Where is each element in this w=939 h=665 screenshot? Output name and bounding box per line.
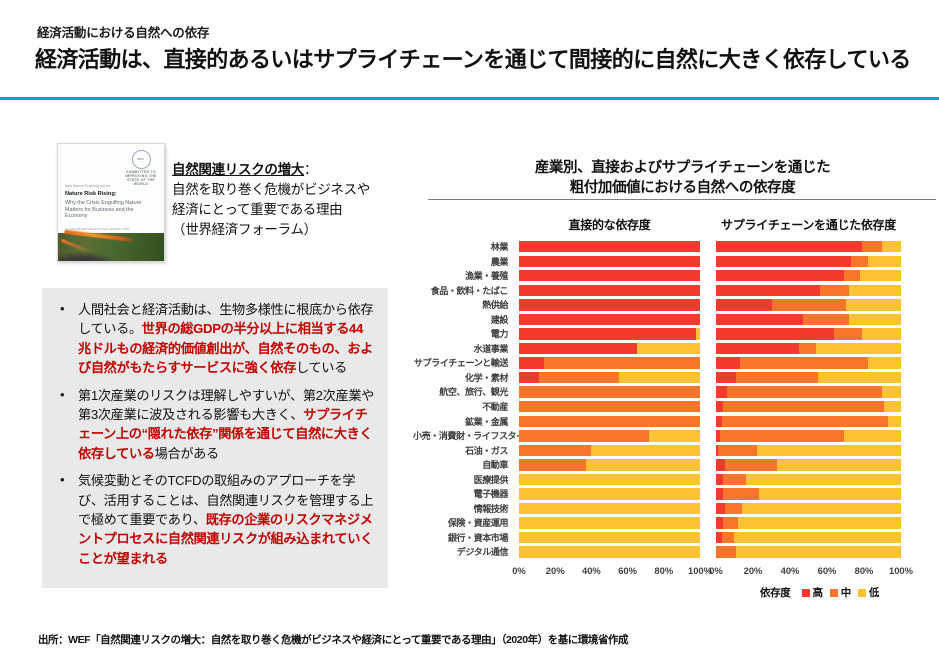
key-point-item: 人間社会と経済活動は、生物多様性に根底から依存している。世界の総GDPの半分以上… [52,300,374,378]
chart-bar-segment-低 [849,314,901,325]
chart-title-line-1: 産業別、直接およびサプライチェーンを通じた [430,158,935,178]
chart-bar-track [716,503,901,514]
chart-category-label: デジタル通信 [413,545,513,560]
chart-bar-row [519,342,700,357]
chart-bar-row [519,327,700,342]
chart-x-axis-supply-chain: 0%20%40%60%80%100% [716,565,901,579]
cover-title: Nature Risk Rising: [65,191,117,197]
chart-bar-segment-高 [519,357,544,368]
chart-bar-segment-低 [844,430,901,441]
chart-bar-segment-中 [723,488,758,499]
chart-bar-track [716,357,901,368]
key-points-box: 人間社会と経済活動は、生物多様性に根底から依存している。世界の総GDPの半分以上… [42,288,388,588]
chart-bar-row [716,327,901,342]
chart-bar-track [716,430,901,441]
cover-photo-lava-2 [61,239,94,255]
chart-bar-row [716,385,901,400]
chart-bar-segment-中 [539,372,619,383]
chart-bar-segment-高 [716,314,803,325]
slide: 経済活動における自然への依存 経済活動は、直接的あるいはサプライチェーンを通じて… [0,0,939,665]
chart-bar-segment-中 [544,357,700,368]
chart-bar-segment-低 [888,416,901,427]
chart-category-label: 鉱業・金属 [413,415,513,430]
chart-bar-segment-中 [803,314,849,325]
chart-bar-track [716,386,901,397]
chart-bar-track [716,314,901,325]
chart-bar-row [716,313,901,328]
legend-swatch-icon [858,589,866,597]
chart-category-label: 食品・飲料・たばこ [413,284,513,299]
chart-bar-segment-低 [777,459,901,470]
chart-bars-direct [519,240,700,560]
chart-bar-segment-高 [519,285,700,296]
chart-bar-row [716,400,901,415]
key-point-text: している [296,360,347,375]
legend-item[interactable]: 中 [830,585,851,600]
chart-category-label: 医療提供 [413,473,513,488]
chart-bar-row [716,342,901,357]
chart-title-line-2: 粗付加価値における自然への依存度 [430,178,935,198]
chart-bar-row [519,255,700,270]
chart-bar-track [716,241,901,252]
chart-bar-row [716,545,901,560]
chart-bar-segment-低 [519,517,700,528]
chart-bar-track [519,430,700,441]
chart-bar-segment-高 [716,270,844,281]
chart-bar-segment-中 [722,416,889,427]
chart-x-tick: 100% [889,565,913,576]
wef-ring-icon: WEF [132,150,151,169]
chart-bar-row [519,545,700,560]
legend-item[interactable]: 高 [802,585,823,600]
chart-category-label: 航空、旅行、観光 [413,385,513,400]
chart-bar-segment-高 [716,503,725,514]
chart-bar-row [519,444,700,459]
chart-bar-segment-中 [725,503,742,514]
chart-category-label: 銀行・資本市場 [413,531,513,546]
chart-bar-segment-中 [519,445,591,456]
chart-x-tick: 80% [654,565,673,576]
chart-bar-track [519,270,700,281]
chart-category-label: 電力 [413,327,513,342]
chart-bar-segment-高 [519,256,700,267]
key-point-item: 気候変動とそのTCFDの取組みのアプローチを学び、活用することは、自然関連リスク… [52,471,374,568]
chart-bar-segment-中 [723,474,745,485]
chart-x-tick: 20% [744,565,763,576]
legend-item[interactable]: 低 [858,585,879,600]
chart-bar-segment-低 [519,503,700,514]
chart-bar-segment-低 [757,445,901,456]
page-title: 経済活動は、直接的あるいはサプライチェーンを通じて間接的に自然に大きく依存してい… [35,42,911,74]
chart-bar-segment-低 [759,488,901,499]
chart-bar-row [519,429,700,444]
chart-bar-segment-低 [868,256,901,267]
chart-title: 産業別、直接およびサプライチェーンを通じた 粗付加価値における自然への依存度 [430,158,935,198]
source-note: 出所：WEF「自然関連リスクの増大：自然を取り巻く危機がビジネスや経済にとって重… [38,632,628,647]
chart-bar-track [716,401,901,412]
chart-bar-row [716,255,901,270]
chart-bar-track [716,546,901,557]
chart-bar-row [716,298,901,313]
chart-bar-segment-中 [862,241,882,252]
chart-bar-segment-低 [519,488,700,499]
chart-bar-segment-中 [725,459,777,470]
chart-bar-segment-高 [716,285,820,296]
chart-bar-row [716,516,901,531]
chart-bar-segment-中 [844,270,861,281]
chart-bar-track [716,517,901,528]
chart-bar-row [716,473,901,488]
chart-legend: 依存度 高中低 [700,585,939,600]
chart-bar-segment-中 [799,343,816,354]
chart-bar-segment-中 [740,357,868,368]
chart-bar-segment-低 [849,285,901,296]
chart-category-label: 自動車 [413,458,513,473]
chart-bar-segment-低 [882,386,901,397]
chart-bar-row [716,356,901,371]
chart-bar-segment-高 [716,241,862,252]
chart-bar-track [519,241,700,252]
chart-bar-segment-中 [736,372,817,383]
chart-bar-segment-低 [519,546,700,557]
chart-bar-track [716,256,901,267]
chart-bar-segment-低 [868,357,901,368]
chart-bar-track [519,386,700,397]
chart-category-label: サプライチェーンと輸送 [413,356,513,371]
key-points-list: 人間社会と経済活動は、生物多様性に根底から依存している。世界の総GDPの半分以上… [42,288,388,568]
chart-bar-track [519,357,700,368]
chart-bar-segment-中 [519,459,586,470]
chart-bar-segment-中 [820,285,850,296]
chart-bar-segment-低 [882,241,901,252]
chart-bar-row [519,269,700,284]
chart-bar-segment-低 [816,343,901,354]
chart-category-labels: 林業農業漁業・養殖食品・飲料・たばこ熱供給建設電力水道事業サプライチェーンと輸送… [413,240,513,560]
key-point-item: 第1次産業のリスクは理解しやすいが、第2次産業や第3次産業に波及される影響も大き… [52,386,374,464]
chart-x-tick: 40% [781,565,800,576]
chart-x-tick: 0% [512,565,526,576]
chart-bar-segment-中 [723,401,884,412]
chart-bar-segment-高 [716,488,723,499]
chart-category-label: 化学・素材 [413,371,513,386]
chart-category-label: 小売・消費財・ライフスタイル [413,429,513,444]
chart-bar-row [519,385,700,400]
legend-swatch-icon [802,589,810,597]
chart-bar-segment-高 [716,372,736,383]
chart-bar-segment-中 [723,517,738,528]
header-divider [0,97,939,100]
chart-bar-track [716,474,901,485]
chart-bar-segment-高 [716,517,723,528]
chart-bar-segment-高 [519,372,539,383]
chart-x-tick: 20% [546,565,565,576]
chart-bar-segment-低 [818,372,901,383]
chart-bar-track [716,299,901,310]
report-cover-thumbnail: WEF COMMITTED TO IMPROVING THE STATE OF … [57,143,165,262]
chart-bar-segment-高 [519,328,696,339]
chart-bar-track [716,532,901,543]
chart-bar-track [519,503,700,514]
cover-photo [58,233,164,261]
chart-bar-segment-中 [519,401,700,412]
chart-category-label: 漁業・養殖 [413,269,513,284]
chart-bar-row [716,502,901,517]
chart-bar-row [716,284,901,299]
chart-bar-row [519,487,700,502]
chart-bar-track [519,372,700,383]
chart-bar-segment-高 [716,299,772,310]
chart-category-label: 不動産 [413,400,513,415]
chart-bar-row [519,458,700,473]
chart-bar-track [519,299,700,310]
chart-bar-segment-中 [718,445,757,456]
chart-bar-track [519,401,700,412]
chart-category-label: 情報技術 [413,502,513,517]
chart-x-tick: 60% [618,565,637,576]
chart-bar-track [716,328,901,339]
chart-category-label: 熱供給 [413,298,513,313]
chart-bar-track [519,459,700,470]
cover-subtitle: Why the Crisis Engulfing Nature Matters … [65,200,153,220]
legend-title: 依存度 [760,585,791,600]
chart-bar-segment-低 [519,532,700,543]
chart-bar-track [716,285,901,296]
chart-bar-row [716,240,901,255]
chart-bar-segment-高 [716,256,851,267]
cover-caption-line4: （世界経済フォーラム） [172,222,317,237]
chart-bar-row [716,531,901,546]
chart-bar-segment-高 [716,357,740,368]
chart-bar-track [519,328,700,339]
chart-bar-track [519,488,700,499]
legend-label: 中 [841,585,851,600]
chart-bar-track [716,270,901,281]
chart-bar-track [716,372,901,383]
chart-bar-segment-中 [772,299,846,310]
cover-series: New Nature Economy series [65,184,110,188]
slide-kicker: 経済活動における自然への依存 [37,22,209,41]
chart-bar-segment-中 [519,430,649,441]
chart-bar-row [716,269,901,284]
chart-bar-segment-低 [884,401,901,412]
chart-bars-supply-chain [716,240,901,560]
chart-bar-segment-中 [851,256,868,267]
chart-bar-row [716,429,901,444]
chart-category-label: 石油・ガス [413,444,513,459]
chart-bar-segment-低 [619,372,700,383]
chart-bar-row [519,502,700,517]
chart-category-label: 建設 [413,313,513,328]
chart-bar-row [519,240,700,255]
chart-bar-segment-中 [727,386,882,397]
chart-bar-segment-低 [742,503,901,514]
chart-bar-segment-中 [519,416,700,427]
chart-bar-segment-低 [734,532,901,543]
chart-bar-segment-高 [519,314,700,325]
chart-bar-segment-高 [519,270,700,281]
chart-bar-segment-低 [736,546,901,557]
chart-bar-segment-高 [519,343,637,354]
chart-bar-segment-高 [716,401,723,412]
chart-bar-segment-中 [834,328,862,339]
chart-bar-track [519,445,700,456]
chart-bar-segment-低 [591,445,700,456]
chart-bar-segment-中 [720,430,844,441]
chart-bar-track [519,474,700,485]
chart-bar-segment-低 [637,343,700,354]
chart-bar-row [519,531,700,546]
chart-bar-segment-低 [860,270,901,281]
chart-title-divider [428,199,936,200]
chart-bar-segment-低 [519,474,700,485]
chart-column-header-direct: 直接的な依存度 [519,216,700,233]
chart-category-label: 林業 [413,240,513,255]
chart-bar-track [519,285,700,296]
chart-bar-track [519,546,700,557]
chart-category-label: 保険・資産運用 [413,516,513,531]
chart-bar-row [716,371,901,386]
chart-bar-row [519,400,700,415]
chart-bar-segment-高 [519,299,700,310]
chart-bar-row [519,313,700,328]
chart-bar-track [716,416,901,427]
chart-column-header-supply-chain: サプライチェーンを通じた依存度 [716,216,901,233]
chart-bar-row [519,356,700,371]
legend-swatch-icon [830,589,838,597]
chart-bar-row [519,371,700,386]
chart-bar-segment-中 [716,546,736,557]
chart-bar-track [519,532,700,543]
legend-label: 低 [869,585,879,600]
chart-bar-track [716,445,901,456]
cover-caption-strong: 自然関連リスクの増大 [172,162,304,177]
chart-bar-track [519,256,700,267]
chart-bar-row [519,415,700,430]
chart-bar-segment-高 [716,343,799,354]
chart-bar-track [519,343,700,354]
chart-bar-track [716,459,901,470]
cover-caption: 自然関連リスクの増大： 自然を取り巻く危機がビジネスや 経済にとって重要である理… [172,160,402,240]
chart-bar-segment-中 [519,386,700,397]
cover-caption-colon: ： [304,162,317,177]
chart-category-label: 水道事業 [413,342,513,357]
chart-x-tick: 60% [818,565,837,576]
chart-bar-row [519,516,700,531]
chart-bar-segment-低 [649,430,700,441]
chart-bar-segment-高 [519,241,700,252]
chart-bar-segment-低 [586,459,700,470]
chart-bar-row [519,284,700,299]
chart-bar-track [519,314,700,325]
legend-label: 高 [813,585,823,600]
chart-bar-track [519,416,700,427]
chart-bar-row [716,444,901,459]
chart-x-axis-direct: 0%20%40%60%80%100% [519,565,700,579]
chart-x-tick: 0% [709,565,723,576]
cover-caption-line3: 経済にとって重要である理由 [172,202,342,217]
wef-logo: WEF COMMITTED TO IMPROVING THE STATE OF … [124,150,158,176]
chart-bar-segment-中 [722,532,735,543]
chart-bar-row [519,473,700,488]
chart-x-tick: 80% [855,565,874,576]
cover-caption-line2: 自然を取り巻く危機がビジネスや [172,182,370,197]
chart-bar-segment-低 [738,517,901,528]
chart-x-tick: 40% [582,565,601,576]
chart-bar-row [716,415,901,430]
chart-bar-track [716,488,901,499]
chart-bar-row [716,487,901,502]
wef-logo-sub: COMMITTED TO IMPROVING THE STATE OF THE … [124,170,158,186]
chart-bar-segment-低 [696,328,700,339]
chart-bar-segment-低 [862,328,901,339]
cover-photo-lava [64,230,136,243]
key-point-text: 場合がある [155,446,219,461]
chart-category-label: 電子機器 [413,487,513,502]
chart-bar-segment-低 [746,474,901,485]
chart-bar-segment-高 [716,328,834,339]
chart-bar-segment-低 [846,299,902,310]
chart-bar-row [716,458,901,473]
chart-bar-segment-高 [716,459,725,470]
chart-bar-track [716,343,901,354]
chart-category-label: 農業 [413,255,513,270]
chart-bar-track [519,517,700,528]
chart-bar-row [519,298,700,313]
chart-bar-segment-高 [716,474,723,485]
chart-bar-segment-高 [716,386,727,397]
